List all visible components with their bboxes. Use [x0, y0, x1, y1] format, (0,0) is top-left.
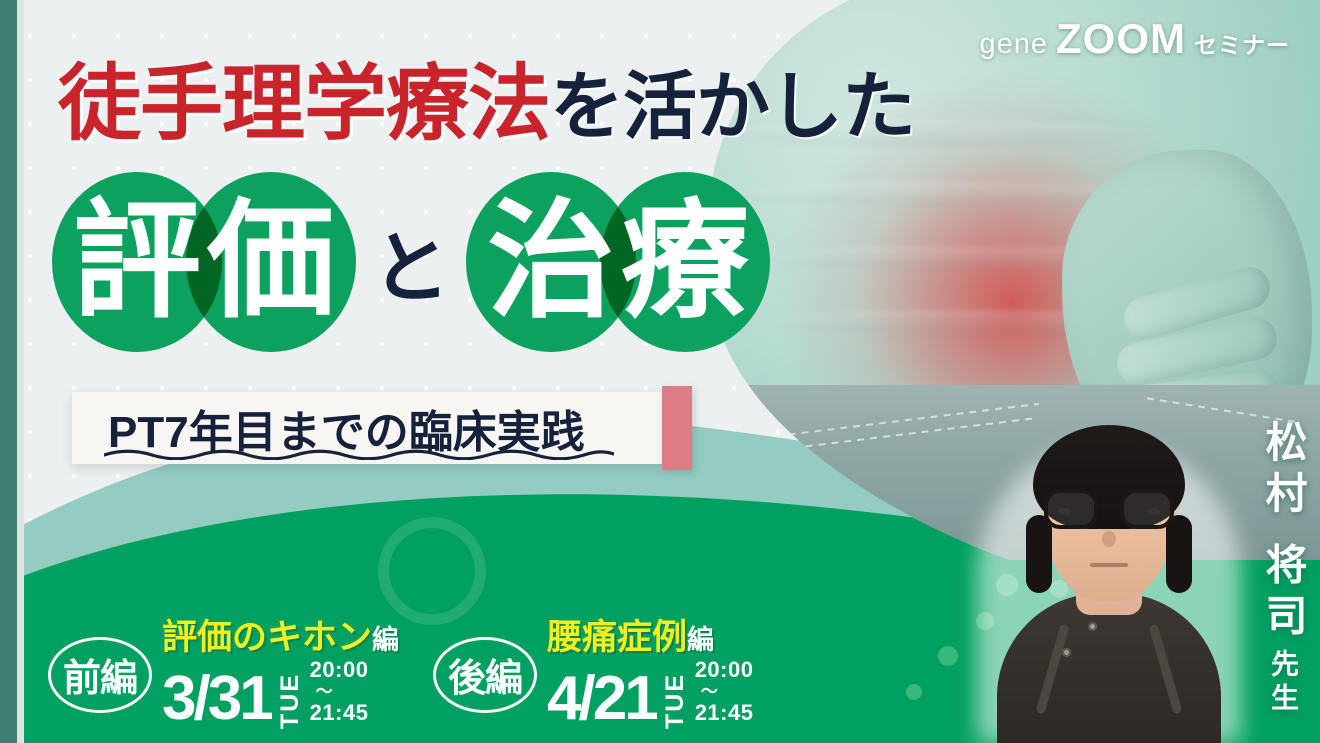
session-topic-text-2: 腰痛症例: [547, 618, 687, 657]
headline: 徒手理学療法を活かした: [58, 62, 915, 145]
session-badge-2: 後編: [433, 637, 537, 713]
title-kanji-circles: 評 価 と 治 療: [52, 172, 734, 352]
session-time-1: 20:00 〜 21:45: [310, 658, 369, 726]
kanji-char-2: 価: [207, 198, 335, 326]
session-badge-1: 前編: [48, 637, 152, 713]
instructor-name-block: 松村 将司 先生: [1262, 420, 1304, 717]
session-dow-2: TUE: [663, 667, 688, 729]
left-edge-inner-strip: [17, 0, 24, 743]
seminar-banner: gene ZOOM セミナー 徒手理学療法を活かした 評 価 と 治 療 PT7…: [0, 0, 1320, 743]
session-topic-suffix-1: 編: [372, 625, 399, 655]
logo-gene-text: gene: [980, 28, 1049, 61]
kanji-circle-2: 価: [186, 172, 356, 352]
logo-zoom-text: ZOOM: [1056, 15, 1186, 63]
ring-decoration: [378, 517, 486, 625]
instructor-name: 松村 将司: [1262, 420, 1304, 645]
kanji-connector: と: [372, 206, 450, 318]
kanji-char-4: 療: [621, 198, 749, 326]
instructor-portrait: [970, 433, 1248, 743]
session-time-end-2: 21:45: [695, 700, 754, 725]
session-list: 前編 評価のキホン編 3/31 TUE 20:00 〜 21:45 後編: [48, 620, 753, 729]
gene-zoom-seminar-logo: gene ZOOM セミナー: [980, 15, 1291, 63]
left-edge-strip: [0, 0, 17, 743]
wavy-underline: [104, 449, 614, 460]
session-topic-text-1: 評価のキホン: [162, 618, 372, 657]
headline-emphasis: 徒手理学療法: [58, 57, 550, 150]
session-topic-1: 評価のキホン編: [162, 620, 399, 657]
session-topic-2: 腰痛症例編: [547, 620, 753, 657]
session-topic-suffix-2: 編: [687, 625, 714, 655]
kanji-char-1: 評: [73, 198, 201, 326]
headline-rest: を活かした: [550, 65, 915, 148]
session-time-start-1: 20:00: [310, 657, 369, 682]
kanji-circle-4: 療: [600, 172, 770, 352]
session-dow-1: TUE: [278, 667, 303, 729]
glasses-icon: [1044, 489, 1174, 529]
session-time-start-2: 20:00: [695, 657, 754, 682]
session-time-tilde-2: 〜: [701, 683, 754, 700]
kanji-circle-3: 治: [466, 172, 636, 352]
subtitle-ribbon: PT7年目までの臨床実践: [72, 392, 662, 464]
session-item-2: 後編 腰痛症例編 4/21 TUE 20:00 〜 21:45: [433, 620, 753, 729]
ribbon-fold: [662, 386, 692, 470]
session-time-end-1: 21:45: [310, 700, 369, 725]
session-time-2: 20:00 〜 21:45: [695, 658, 754, 726]
kanji-circle-1: 評: [52, 172, 222, 352]
logo-seminar-text: セミナー: [1194, 26, 1290, 60]
session-date-2: 4/21: [547, 670, 656, 729]
instructor-honorific: 先生: [1263, 649, 1303, 717]
kanji-char-3: 治: [487, 198, 615, 326]
session-time-tilde-1: 〜: [316, 683, 369, 700]
session-date-1: 3/31: [162, 670, 271, 729]
session-item-1: 前編 評価のキホン編 3/31 TUE 20:00 〜 21:45: [48, 620, 399, 729]
